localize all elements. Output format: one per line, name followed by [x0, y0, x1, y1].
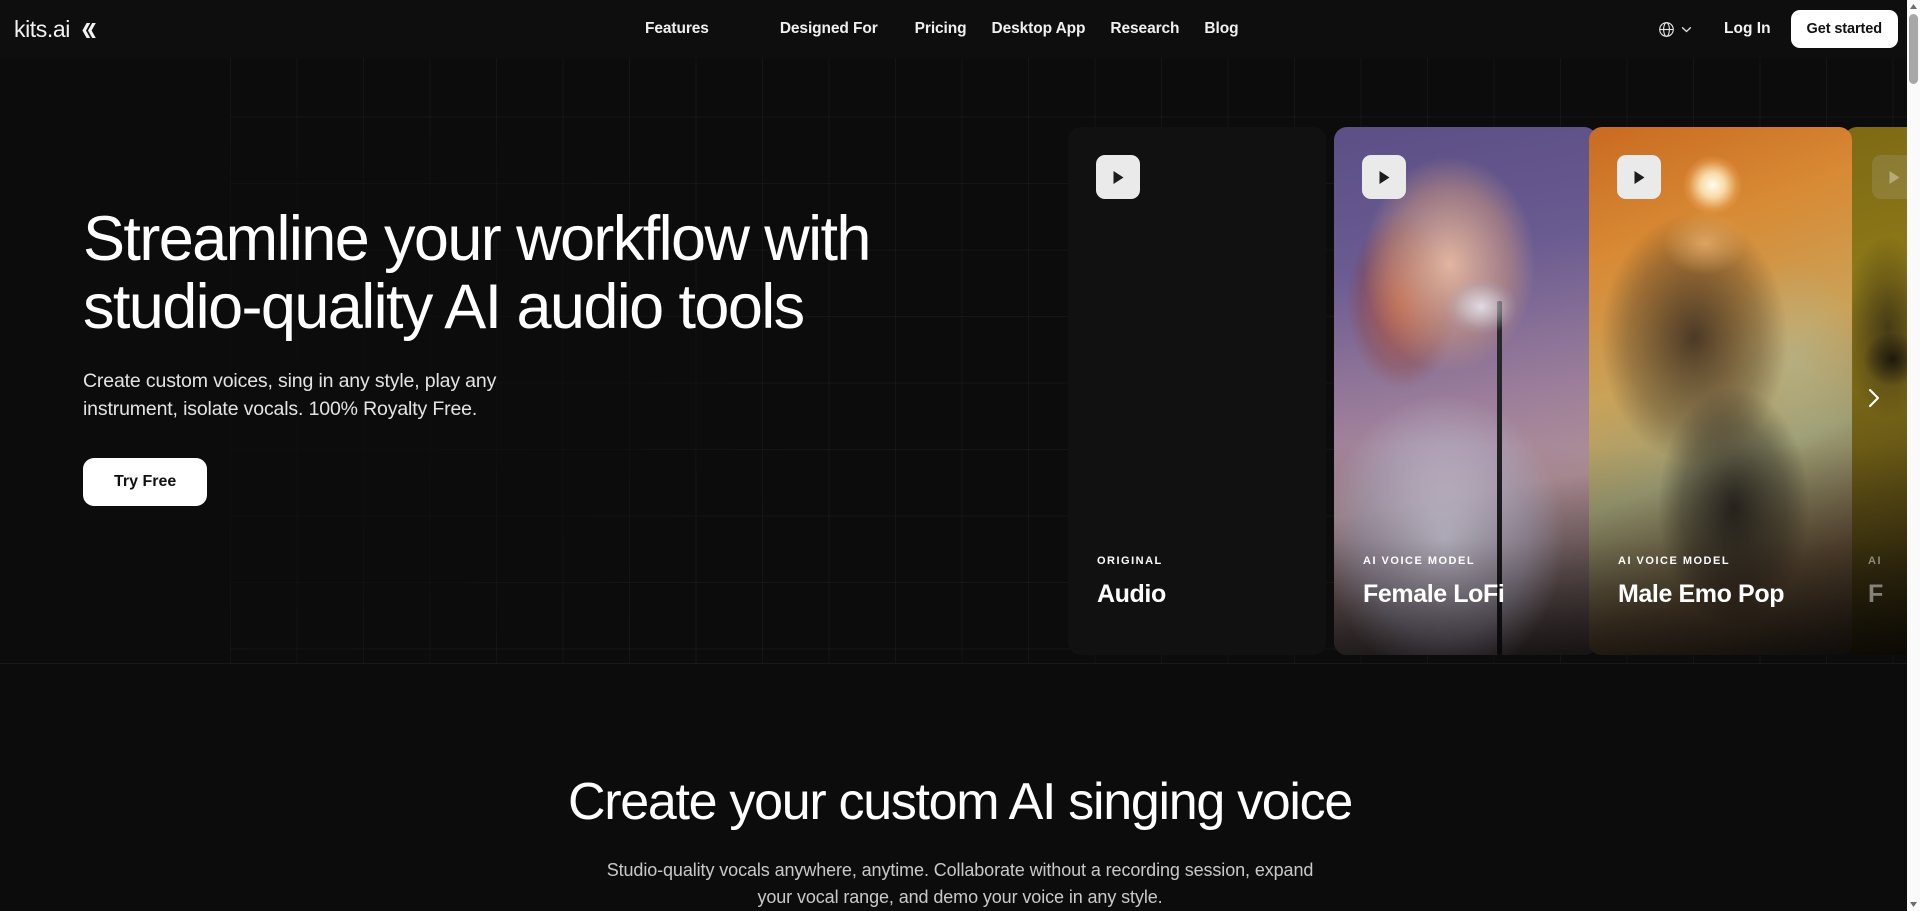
- voice-model-carousel: ORIGINAL Audio AI VOICE MODEL Female LoF…: [1068, 127, 1920, 655]
- card-meta: AI VOICE MODEL Male Emo Pop: [1618, 555, 1784, 609]
- section-title: Create your custom AI singing voice: [568, 772, 1352, 832]
- section-subtitle: Studio-quality vocals anywhere, anytime.…: [595, 857, 1325, 910]
- page-scrollbar[interactable]: [1907, 0, 1920, 911]
- carousel-card-original-audio[interactable]: ORIGINAL Audio: [1068, 127, 1326, 655]
- scrollbar-up-arrow-icon[interactable]: [1907, 0, 1920, 13]
- try-free-button[interactable]: Try Free: [83, 458, 207, 506]
- card-kicker: AI VOICE MODEL: [1363, 555, 1504, 567]
- carousel-card-male-emo-pop[interactable]: AI VOICE MODEL Male Emo Pop: [1589, 127, 1852, 655]
- hero-subtitle: Create custom voices, sing in any style,…: [83, 367, 515, 424]
- scrollbar-down-arrow-icon[interactable]: [1907, 898, 1920, 911]
- audio-waveform: [1086, 341, 1308, 441]
- nav-item-blog[interactable]: Blog: [1204, 14, 1238, 44]
- nav-item-research[interactable]: Research: [1110, 14, 1179, 44]
- card-title: Male Emo Pop: [1618, 580, 1784, 609]
- play-icon: [1888, 170, 1901, 185]
- nav-right-actions: Log In Get started: [1658, 10, 1898, 48]
- globe-icon: [1658, 21, 1675, 38]
- brand-logo[interactable]: kits.ai: [14, 16, 96, 43]
- top-navigation-bar: kits.ai Features Designed For Pricing De…: [0, 0, 1920, 58]
- nav-links: Features Designed For Pricing Desktop Ap…: [645, 14, 1238, 44]
- chevron-right-icon: [1866, 386, 1882, 413]
- chevron-down-icon: [1681, 26, 1692, 33]
- hero-title: Streamline your workflow with studio-qua…: [83, 205, 993, 342]
- carousel-next-button[interactable]: [1855, 380, 1893, 418]
- card-kicker: AI VOICE MODEL: [1618, 555, 1784, 567]
- hero-section: Streamline your workflow with studio-qua…: [0, 58, 1920, 663]
- card-title: Female LoFi: [1363, 580, 1504, 609]
- play-icon: [1112, 170, 1125, 185]
- card-title: Audio: [1097, 580, 1166, 609]
- play-button[interactable]: [1096, 155, 1140, 199]
- nav-item-desktop-app[interactable]: Desktop App: [992, 14, 1086, 44]
- card-title: F: [1868, 580, 1883, 609]
- login-link[interactable]: Log In: [1724, 20, 1771, 38]
- nav-item-features[interactable]: Features: [645, 14, 709, 44]
- card-meta: AI F: [1868, 555, 1883, 609]
- card-meta: AI VOICE MODEL Female LoFi: [1363, 555, 1504, 609]
- double-chevron-icon: [79, 23, 96, 38]
- custom-voice-section: Create your custom AI singing voice Stud…: [0, 664, 1920, 911]
- nav-item-designed-for[interactable]: Designed For: [780, 14, 878, 44]
- card-gradient-overlay: [1589, 445, 1852, 655]
- play-icon: [1378, 170, 1391, 185]
- get-started-button[interactable]: Get started: [1791, 10, 1898, 48]
- scrollbar-thumb[interactable]: [1909, 14, 1918, 84]
- card-kicker: AI: [1868, 555, 1883, 567]
- play-icon: [1633, 170, 1646, 185]
- brand-logo-text: kits.ai: [14, 16, 70, 43]
- card-meta: ORIGINAL Audio: [1097, 555, 1166, 609]
- card-kicker: ORIGINAL: [1097, 555, 1166, 567]
- hero-copy: Streamline your workflow with studio-qua…: [83, 205, 1003, 506]
- play-button[interactable]: [1617, 155, 1661, 199]
- carousel-card-female-lofi[interactable]: AI VOICE MODEL Female LoFi: [1334, 127, 1597, 655]
- language-selector[interactable]: [1658, 21, 1692, 38]
- play-button[interactable]: [1362, 155, 1406, 199]
- nav-item-pricing[interactable]: Pricing: [915, 14, 967, 44]
- card-gradient-overlay: [1334, 445, 1597, 655]
